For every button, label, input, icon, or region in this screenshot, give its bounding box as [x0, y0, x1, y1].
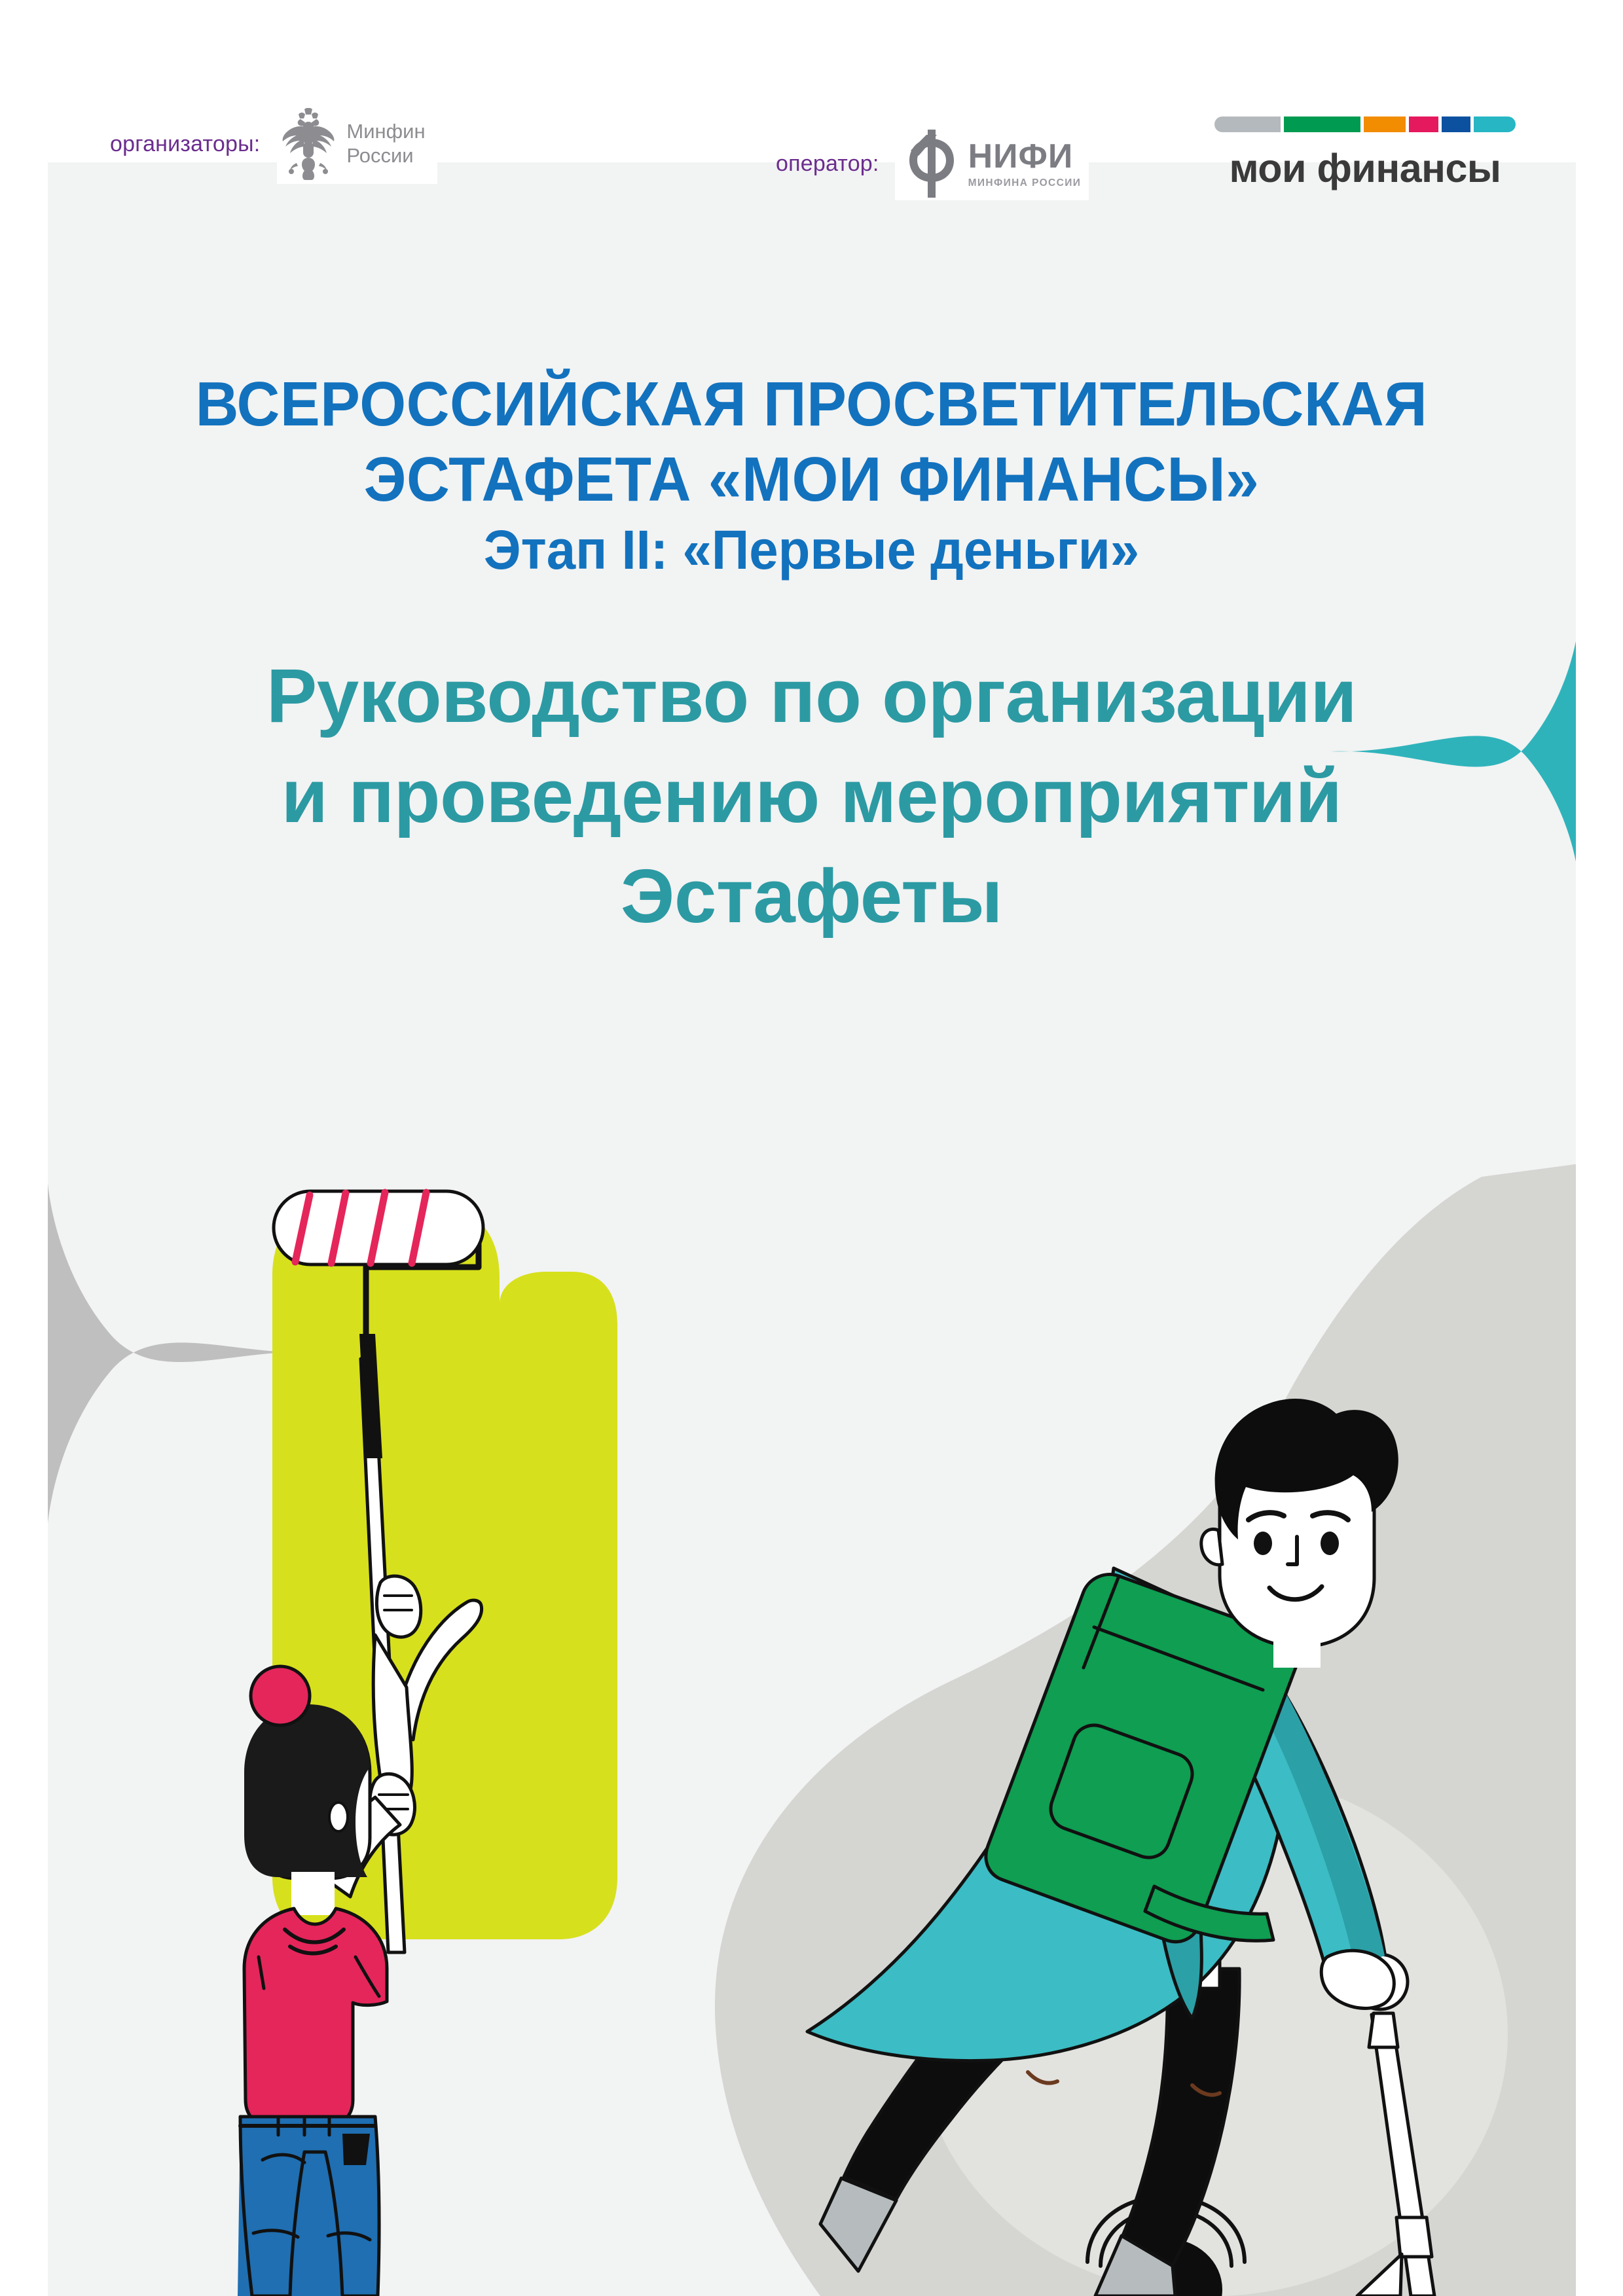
subtitle-line-1: Руководство по организации [0, 646, 1623, 746]
bar-segment-teal [1474, 117, 1516, 132]
title-block: ВСЕРОССИЙСКАЯ ПРОСВЕТИТЕЛЬСКАЯ ЭСТАФЕТА … [0, 367, 1623, 947]
minfin-logo-lockup: Минфин России [277, 104, 437, 184]
subtitle-block: Руководство по организации и проведению … [0, 646, 1623, 946]
bar-segment-green [1284, 117, 1360, 132]
bar-segment-blue [1442, 117, 1470, 132]
nifi-subline: МИНФИНА РОССИИ [968, 178, 1082, 188]
organizers-group: организаторы: [110, 104, 437, 184]
nifi-abbr: НИФИ [968, 139, 1082, 173]
minfin-line-1: Минфин [346, 120, 425, 143]
double-headed-eagle-icon [281, 108, 336, 180]
subtitle-line-3: Эстафеты [0, 846, 1623, 946]
my-finances-color-bar [1214, 117, 1516, 132]
organizers-label: организаторы: [110, 132, 260, 157]
operator-label: оператор: [776, 151, 879, 177]
page-header: организаторы: [0, 0, 1623, 196]
boy-commuter-figure [807, 1399, 1434, 2296]
minfin-line-2: России [346, 144, 413, 167]
title-line-3: Этап II: «Первые деньги» [41, 517, 1582, 583]
document-cover-page: организаторы: [0, 0, 1623, 2296]
subtitle-line-2: и проведению мероприятий [0, 746, 1623, 846]
my-finances-wordmark: мои финансы [1214, 145, 1516, 191]
phi-symbol-icon [903, 130, 959, 198]
title-line-1: ВСЕРОССИЙСКАЯ ПРОСВЕТИТЕЛЬСКАЯ [41, 367, 1582, 442]
operator-group: оператор: НИФИ МИНФИНА РОССИИ [776, 127, 1089, 200]
title-line-2: ЭСТАФЕТА «МОИ ФИНАНСЫ» [41, 442, 1582, 517]
nifi-logo-lockup: НИФИ МИНФИНА РОССИИ [895, 127, 1089, 200]
nifi-wordmark: НИФИ МИНФИНА РОССИИ [968, 139, 1082, 188]
bar-segment-pink [1409, 117, 1438, 132]
my-finances-logo: мои финансы [1214, 117, 1516, 191]
minfin-wordmark: Минфин России [346, 120, 425, 168]
bar-segment-orange [1364, 117, 1406, 132]
bar-segment-gray [1214, 117, 1281, 132]
